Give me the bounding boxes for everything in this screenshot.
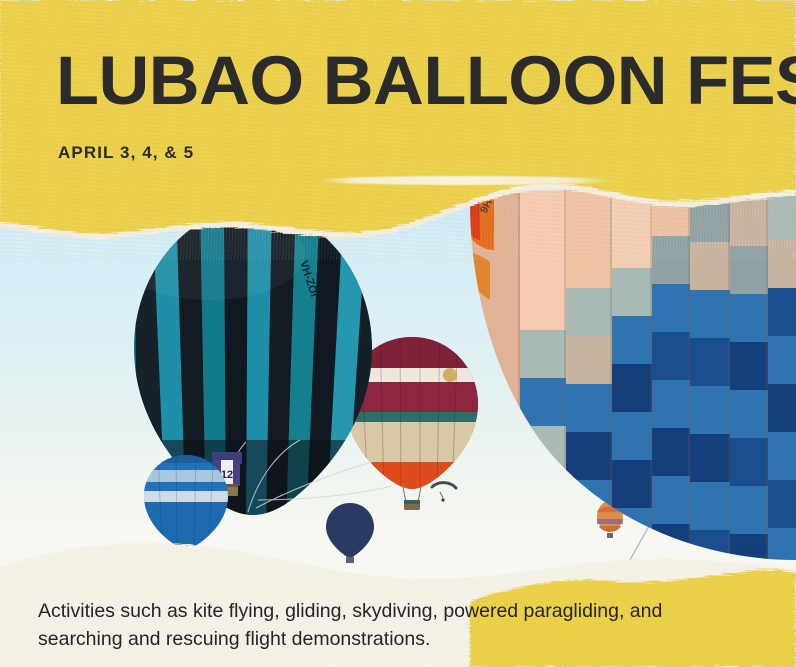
yellow-header-band: [0, 0, 796, 260]
page-title: LUBAO BALLOON FESTIVAL: [56, 46, 796, 115]
event-description: Activities such as kite flying, gliding,…: [38, 598, 738, 653]
poster: 9H: [0, 0, 796, 667]
paper-streak: [318, 176, 614, 185]
event-dates: APRIL 3, 4, & 5: [58, 143, 194, 163]
paper-texture-top: [0, 0, 796, 260]
